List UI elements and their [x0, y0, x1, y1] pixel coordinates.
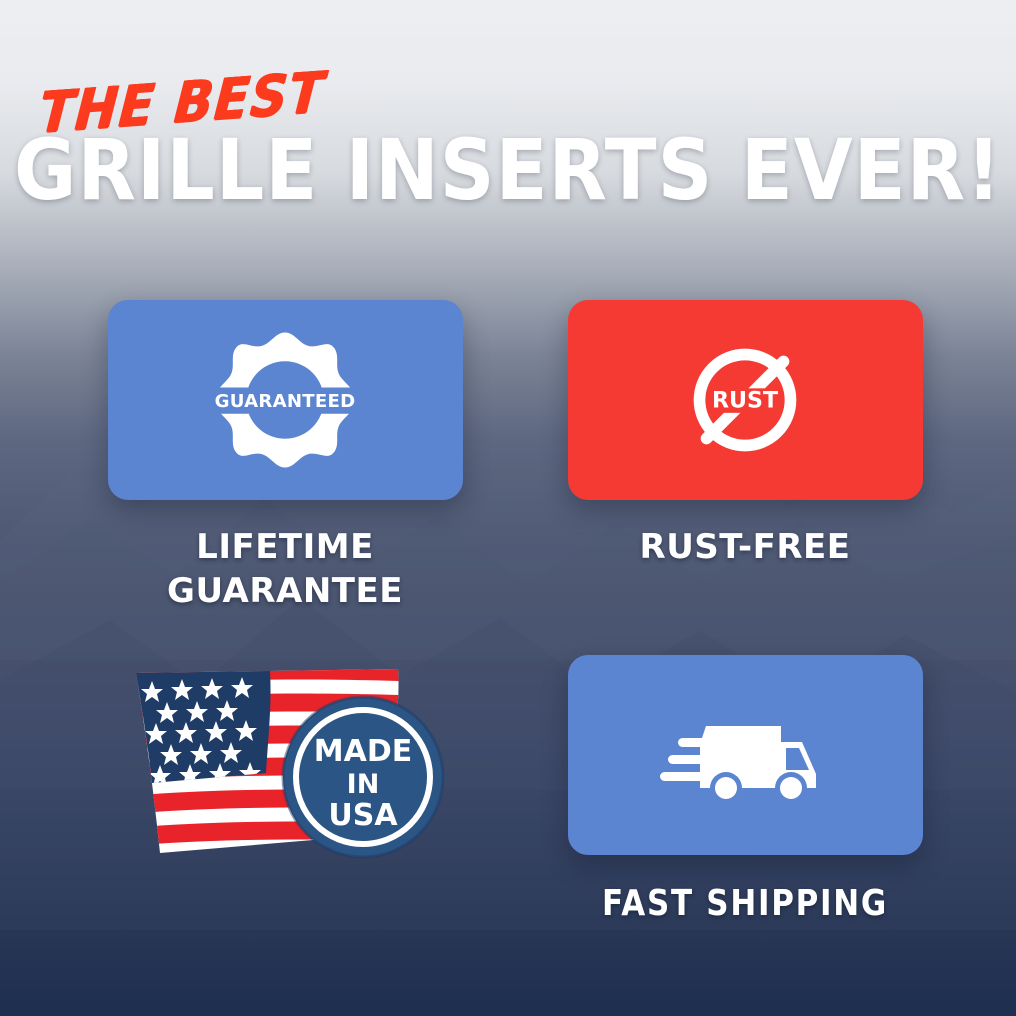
feature-card-guarantee: GUARANTEED	[108, 300, 463, 500]
feature-caption-rust: RUST-FREE	[535, 526, 955, 570]
guarantee-seal-label: GUARANTEED	[215, 391, 356, 412]
caption-line-1: LIFETIME	[75, 526, 495, 570]
usa-flag-badge-icon: MADE IN USA	[108, 655, 463, 855]
feature-card-shipping	[568, 655, 923, 855]
feature-rust-free: RUST RUST-FREE	[535, 300, 955, 570]
feature-made-in-usa: MADE IN USA	[75, 655, 495, 855]
feature-card-rust: RUST	[568, 300, 923, 500]
guarantee-seal-icon: GUARANTEED	[210, 325, 360, 475]
caption-line-1: FAST SHIPPING	[564, 881, 925, 927]
feature-caption-guarantee: LIFETIME GUARANTEE	[75, 526, 495, 613]
feature-fast-shipping: FAST SHIPPING	[535, 655, 955, 927]
caption-line-1: RUST-FREE	[535, 526, 955, 570]
promo-graphic: THE BEST GRILLE INSERTS EVER! GUARANTEED	[0, 0, 1016, 1016]
badge-line-usa: USA	[328, 798, 398, 833]
no-rust-label: RUST	[712, 388, 778, 414]
made-in-usa-badge: MADE IN USA	[283, 697, 443, 857]
feature-caption-shipping: FAST SHIPPING	[564, 881, 925, 927]
delivery-truck-icon	[660, 700, 830, 810]
badge-line-in: IN	[346, 769, 379, 800]
no-rust-icon: RUST	[675, 330, 815, 470]
page-title: GRILLE INSERTS EVER!	[0, 128, 1016, 212]
feature-lifetime-guarantee: GUARANTEED LIFETIME GUARANTEE	[75, 300, 495, 613]
badge-line-made: MADE	[313, 734, 411, 769]
usa-flag-graphic: MADE IN USA	[108, 655, 463, 870]
caption-line-2: GUARANTEE	[75, 570, 495, 614]
